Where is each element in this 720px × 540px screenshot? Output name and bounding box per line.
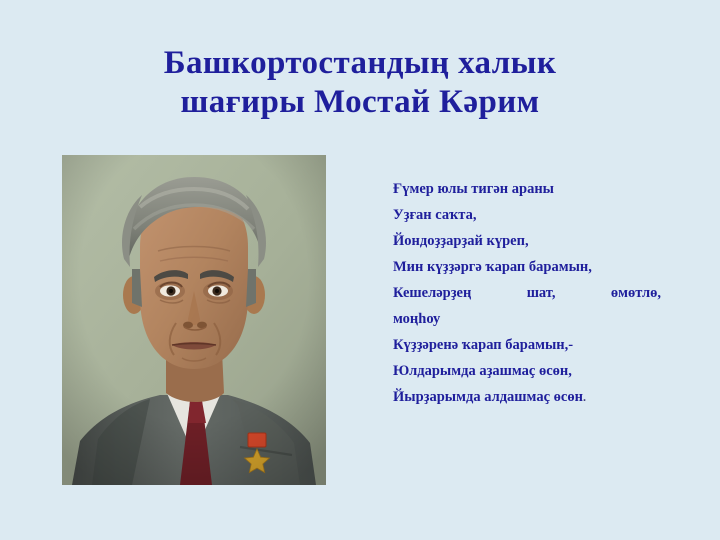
poem-line-6: моңһоу <box>393 306 665 332</box>
poem-line-5-word-2: шат, <box>527 280 556 306</box>
poem-line-5-word-3: өмөтлө, <box>611 280 661 306</box>
poem-final-period: . <box>583 390 586 404</box>
poem-line-5-word-1: Кешеләрҙең <box>393 280 471 306</box>
poem-line-3: Йондоҙҙарҙай күреп, <box>393 228 665 254</box>
page-title: Башкортостандың халык шағиры Мостай Кәри… <box>60 44 660 122</box>
portrait-photo <box>62 155 326 485</box>
slide-canvas: Башкортостандың халык шағиры Мостай Кәри… <box>0 0 720 540</box>
poem-line-1: Ғүмер юлы тигән араны <box>393 176 665 202</box>
poem-line-8: Юлдарымда аҙашмаҫ өсөн, <box>393 358 665 384</box>
title-line-1: Башкортостандың халык <box>60 44 660 83</box>
poem-line-9: Йырҙарымда алдашмаҫ өсөн. <box>393 384 665 410</box>
poem-line-9-text: Йырҙарымда алдашмаҫ өсөн <box>393 389 583 405</box>
portrait-illustration <box>62 155 326 485</box>
poem-line-4: Мин күҙҙәргә ҡарап барамын, <box>393 254 665 280</box>
title-line-2: шағиры Мостай Кәрим <box>60 83 660 122</box>
poem-line-2: Уҙған саҡта, <box>393 202 665 228</box>
poem-line-7: Күҙҙәренә ҡарап барамын,- <box>393 332 665 358</box>
poem-line-5: Кешеләрҙең шат, өмөтлө, <box>393 280 661 306</box>
poem-text: Ғүмер юлы тигән араны Уҙған саҡта, Йондо… <box>393 176 665 410</box>
